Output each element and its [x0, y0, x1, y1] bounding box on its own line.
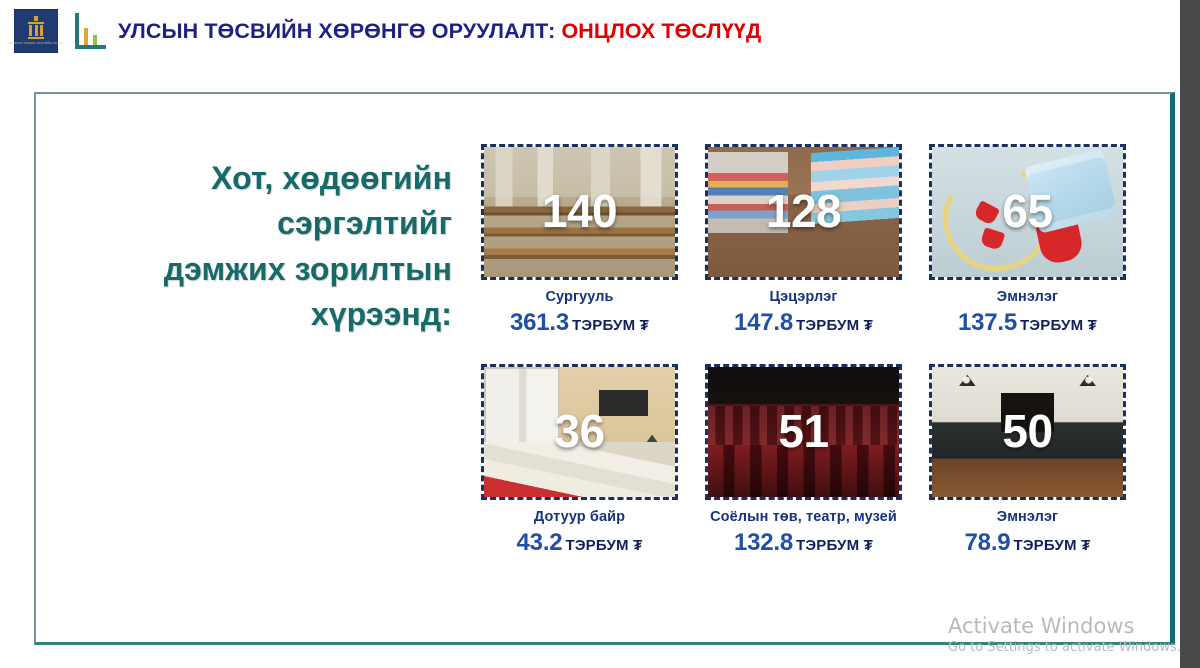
- card-photo-sports-hall: 50: [929, 364, 1126, 500]
- slide-content-frame: Хот, хөдөөгийн сэргэлтийг дэмжих зорилты…: [34, 92, 1175, 645]
- card-amount-unit: ТЭРБУМ ₮: [565, 537, 642, 554]
- card-amount-value: 137.5: [958, 309, 1017, 336]
- card-amount-value: 43.2: [517, 529, 563, 556]
- card-photo-theatre: 51: [705, 364, 902, 500]
- card-amount: 361.3ТЭРБУМ ₮: [472, 311, 687, 335]
- card-photo-dormitory: 36: [481, 364, 678, 500]
- bar-chart-logo-icon: [72, 13, 106, 49]
- card-amount: 137.5ТЭРБУМ ₮: [920, 311, 1135, 335]
- card-label: Соёлын төв, театр, музей: [696, 509, 911, 525]
- card-count: 50: [932, 408, 1123, 454]
- project-card: 128 Цэцэрлэг 147.8ТЭРБУМ ₮: [696, 144, 911, 359]
- heading-line: дэмжих зорилтын: [122, 247, 452, 292]
- section-heading: Хот, хөдөөгийн сэргэлтийг дэмжих зорилты…: [122, 156, 452, 338]
- heading-line: Хот, хөдөөгийн: [122, 156, 452, 201]
- card-amount-unit: ТЭРБУМ ₮: [796, 537, 873, 554]
- page-title-accent: ОНЦЛОХ ТӨСЛҮҮД: [561, 19, 761, 43]
- card-amount-value: 147.8: [734, 309, 793, 336]
- card-photo-school: 140: [481, 144, 678, 280]
- card-amount-unit: ТЭРБУМ ₮: [796, 317, 873, 334]
- card-photo-hospital: 65: [929, 144, 1126, 280]
- project-card: 51 Соёлын төв, театр, музей 132.8ТЭРБУМ …: [696, 364, 911, 579]
- card-amount-unit: ТЭРБУМ ₮: [572, 317, 649, 334]
- card-count: 36: [484, 408, 675, 454]
- card-label: Эмнэлэг: [920, 509, 1135, 525]
- right-edge-strip: [1180, 0, 1200, 668]
- page-title: УЛСЫН ТӨСВИЙН ХӨРӨНГӨ ОРУУЛАЛТ: ОНЦЛОХ Т…: [118, 19, 761, 44]
- card-amount-unit: ТЭРБУМ ₮: [1020, 317, 1097, 334]
- soyombo-symbol-icon: [28, 16, 44, 40]
- heading-line: хүрээнд:: [122, 292, 452, 337]
- card-label: Сургууль: [472, 289, 687, 305]
- card-amount-value: 361.3: [510, 309, 569, 336]
- card-label: Дотуур байр: [472, 509, 687, 525]
- government-emblem-icon: МОНГОЛ УЛСЫН ЗАСГИЙН ГАЗАР: [14, 9, 58, 53]
- card-amount: 132.8ТЭРБУМ ₮: [696, 531, 911, 555]
- project-card: 36 Дотуур байр 43.2ТЭРБУМ ₮: [472, 364, 687, 579]
- card-amount-unit: ТЭРБУМ ₮: [1013, 537, 1090, 554]
- card-amount: 43.2ТЭРБУМ ₮: [472, 531, 687, 555]
- card-count: 51: [708, 408, 899, 454]
- project-card: 65 Эмнэлэг 137.5ТЭРБУМ ₮: [920, 144, 1135, 359]
- card-amount-value: 78.9: [965, 529, 1011, 556]
- card-count: 65: [932, 188, 1123, 234]
- project-cards-grid: 140 Сургууль 361.3ТЭРБУМ ₮ 128 Цэцэрлэг …: [472, 144, 1142, 579]
- project-card: 140 Сургууль 361.3ТЭРБУМ ₮: [472, 144, 687, 359]
- card-label: Эмнэлэг: [920, 289, 1135, 305]
- project-card: 50 Эмнэлэг 78.9ТЭРБУМ ₮: [920, 364, 1135, 579]
- card-count: 140: [484, 188, 675, 234]
- card-label: Цэцэрлэг: [696, 289, 911, 305]
- slide-header: МОНГОЛ УЛСЫН ЗАСГИЙН ГАЗАР УЛСЫН ТӨСВИЙН…: [0, 0, 1180, 62]
- emblem-caption: МОНГОЛ УЛСЫН ЗАСГИЙН ГАЗАР: [9, 42, 63, 46]
- card-amount-value: 132.8: [734, 529, 793, 556]
- card-amount: 147.8ТЭРБУМ ₮: [696, 311, 911, 335]
- heading-line: сэргэлтийг: [122, 201, 452, 246]
- card-amount: 78.9ТЭРБУМ ₮: [920, 531, 1135, 555]
- card-count: 128: [708, 188, 899, 234]
- card-photo-kindergarten: 128: [705, 144, 902, 280]
- page-title-main: УЛСЫН ТӨСВИЙН ХӨРӨНГӨ ОРУУЛАЛТ:: [118, 19, 555, 43]
- presentation-slide: МОНГОЛ УЛСЫН ЗАСГИЙН ГАЗАР УЛСЫН ТӨСВИЙН…: [0, 0, 1200, 668]
